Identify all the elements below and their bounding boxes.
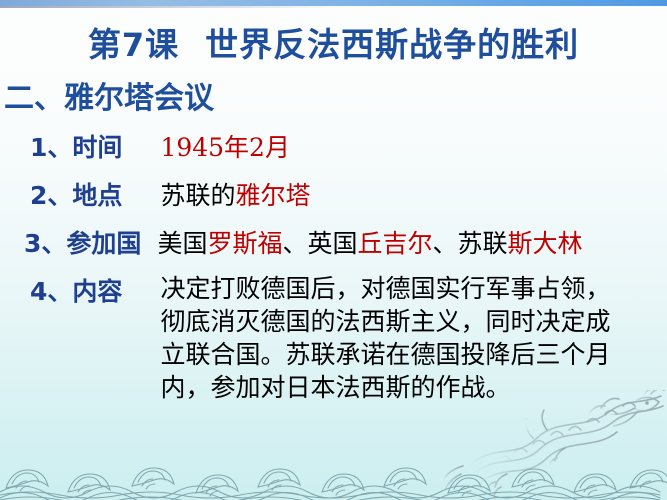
item-label: 1、时间 <box>30 128 122 164</box>
item-separator: 、 <box>47 277 72 306</box>
segment-leader-stalin: 斯大林 <box>508 229 583 258</box>
dragon-illustration <box>437 390 667 500</box>
slide-title-main: 世界反法西斯战争的胜利 <box>205 25 579 64</box>
list-item: 2、地点 苏联的雅尔塔 <box>0 176 667 224</box>
item-label-text: 内容 <box>72 277 122 306</box>
item-separator: 、 <box>47 133 72 162</box>
item-index: 4 <box>30 277 47 306</box>
slide-title-suffix: 课 <box>145 25 179 64</box>
list-item: 1、时间 1945年2月 <box>0 128 667 176</box>
item-separator: 、 <box>47 181 72 210</box>
item-label: 2、地点 <box>30 176 122 212</box>
segment-country-us: 美国 <box>157 229 207 258</box>
item-value-red: 雅尔塔 <box>235 181 310 210</box>
presentation-slide: 第7课世界反法西斯战争的胜利 二、雅尔塔会议 1、时间 1945年2月 2、地点… <box>0 0 667 500</box>
bottom-decoration <box>0 390 667 500</box>
segment-leader-roosevelt: 罗斯福 <box>207 229 282 258</box>
slide-title-prefix: 第 <box>88 25 122 64</box>
list-item: 4、内容 决定打败德国后，对德国实行军事占领， 彻底消灭德国的法西斯主义，同时决… <box>0 272 667 320</box>
segment-country-uk: 、英国 <box>282 229 357 258</box>
section-heading: 二、雅尔塔会议 <box>4 73 214 117</box>
paragraph-line: 立联合国。苏联承诺在德国投降后三个月 <box>160 338 610 371</box>
item-value: 1945年2月 <box>160 128 290 164</box>
item-value: 美国罗斯福、英国丘吉尔、苏联斯大林 <box>157 224 582 260</box>
list-item: 3、参加国 美国罗斯福、英国丘吉尔、苏联斯大林 <box>0 224 667 272</box>
item-label-text: 时间 <box>72 133 122 162</box>
top-accent-strip-shadow <box>0 6 340 8</box>
item-label-text: 地点 <box>72 181 122 210</box>
item-index: 2 <box>30 181 47 210</box>
segment-country-ussr: 、苏联 <box>433 229 508 258</box>
item-separator: 、 <box>41 229 66 258</box>
item-label-text: 参加国 <box>66 229 141 258</box>
slide-title-number: 7 <box>122 26 145 64</box>
paragraph-line: 内，参加对日本法西斯的作战。 <box>160 371 610 404</box>
wave-pattern <box>0 448 667 500</box>
item-index: 3 <box>24 229 41 258</box>
segment-leader-churchill: 丘吉尔 <box>357 229 432 258</box>
item-label: 4、内容 <box>30 272 122 308</box>
slide-title: 第7课世界反法西斯战争的胜利 <box>0 18 667 66</box>
paragraph-line: 决定打败德国后，对德国实行军事占领， <box>160 272 610 305</box>
item-value: 苏联的雅尔塔 <box>160 176 310 212</box>
item-label: 3、参加国 <box>24 224 141 260</box>
item-list: 1、时间 1945年2月 2、地点 苏联的雅尔塔 3、参加国 美国罗斯福、英国丘… <box>0 128 667 320</box>
paragraph-line: 彻底消灭德国的法西斯主义，同时决定成 <box>160 305 610 338</box>
item-value-black: 苏联的 <box>160 181 235 210</box>
item-paragraph: 决定打败德国后，对德国实行军事占领， 彻底消灭德国的法西斯主义，同时决定成 立联… <box>160 272 610 404</box>
item-index: 1 <box>30 133 47 162</box>
